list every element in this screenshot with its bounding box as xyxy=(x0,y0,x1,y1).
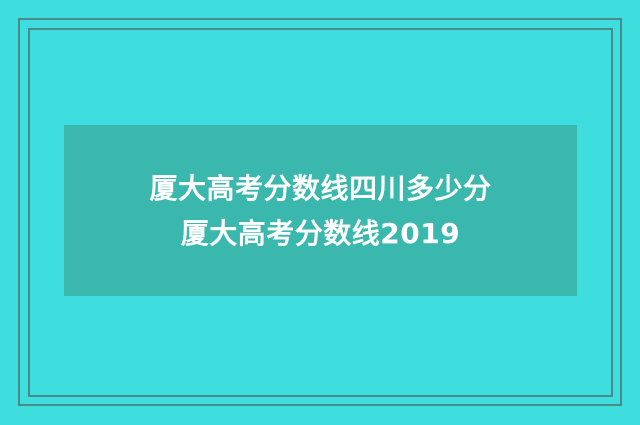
headline-line-1: 厦大高考分数线四川多少分 xyxy=(149,166,491,211)
headline-line-2: 厦大高考分数线2019 xyxy=(181,211,460,256)
poster-canvas: 厦大高考分数线四川多少分 厦大高考分数线2019 xyxy=(0,0,640,425)
headline-panel: 厦大高考分数线四川多少分 厦大高考分数线2019 xyxy=(64,125,577,296)
